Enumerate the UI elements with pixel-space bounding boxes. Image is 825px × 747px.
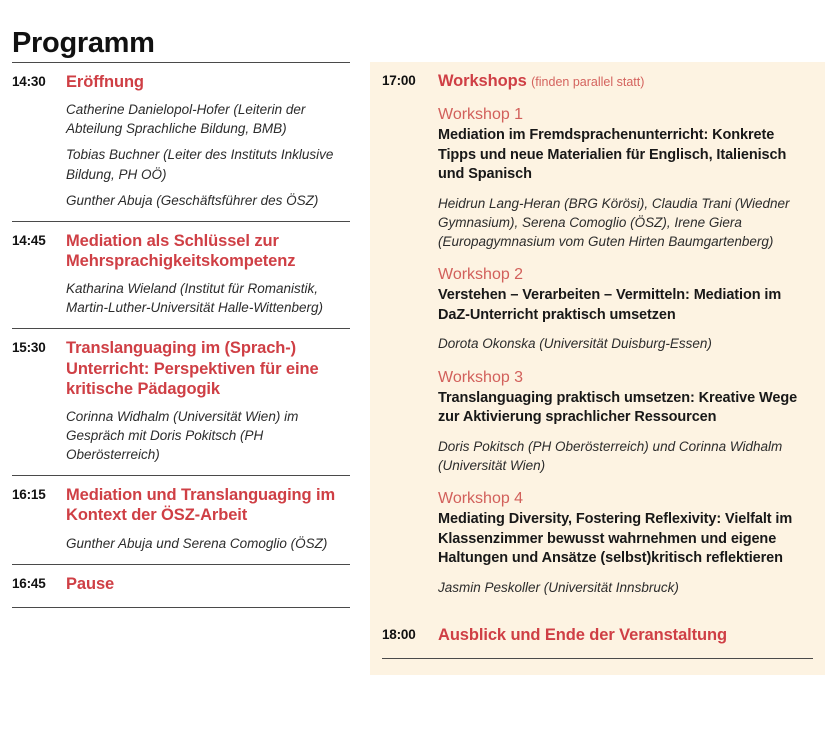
session-speaker: Gunther Abuja und Serena Comoglio (ÖSZ) <box>66 534 350 553</box>
session-speaker: Tobias Buchner (Leiter des Instituts Ink… <box>66 145 350 183</box>
workshops-heading-text: Workshops <box>438 72 527 90</box>
workshops-row: 17:00 Workshops (finden parallel statt) … <box>382 62 813 616</box>
workshop-item: Workshop 3 Translanguaging praktisch ums… <box>438 368 813 475</box>
schedule-row: 16:45 Pause <box>12 564 350 608</box>
session-time: 14:30 <box>12 72 66 89</box>
closing-row: 18:00 Ausblick und Ende der Veranstaltun… <box>382 616 813 659</box>
workshop-item: Workshop 4 Mediating Diversity, Fosterin… <box>438 489 813 597</box>
workshop-label: Workshop 4 <box>438 489 813 509</box>
session-time: 18:00 <box>382 625 438 642</box>
workshops-heading: Workshops (finden parallel statt) <box>438 71 813 91</box>
session-speaker: Gunther Abuja (Geschäftsführer des ÖSZ) <box>66 191 350 210</box>
session-time: 17:00 <box>382 71 438 88</box>
session-title: Mediation als Schlüssel zur Mehrsprachig… <box>66 231 350 271</box>
session-time: 16:45 <box>12 574 66 591</box>
session-title: Ausblick und Ende der Veranstaltung <box>438 625 813 645</box>
schedule-left-column: 14:30 Eröffnung Catherine Danielopol-Hof… <box>0 0 362 608</box>
session-speaker: Katharina Wieland (Institut für Romanist… <box>66 279 350 317</box>
workshop-label: Workshop 1 <box>438 105 813 125</box>
session-speaker: Corinna Widhalm (Universität Wien) im Ge… <box>66 407 350 464</box>
schedule-row: 16:15 Mediation und Translanguaging im K… <box>12 475 350 563</box>
workshop-speakers: Heidrun Lang-Heran (BRG Körösi), Claudia… <box>438 194 813 251</box>
session-title: Eröffnung <box>66 72 350 92</box>
schedule-row: 15:30 Translanguaging im (Sprach-) Unter… <box>12 328 350 475</box>
workshop-speakers: Jasmin Peskoller (Universität Innsbruck) <box>438 578 813 597</box>
session-time: 15:30 <box>12 338 66 355</box>
schedule-row: 14:45 Mediation als Schlüssel zur Mehrsp… <box>12 221 350 329</box>
workshop-label: Workshop 3 <box>438 368 813 388</box>
schedule-right-column: 17:00 Workshops (finden parallel statt) … <box>370 0 825 659</box>
session-speaker: Catherine Danielopol-Hofer (Leiterin der… <box>66 100 350 138</box>
workshop-item: Workshop 1 Mediation im Fremdsprachenunt… <box>438 105 813 251</box>
session-time: 16:15 <box>12 485 66 502</box>
program-page: Programm 14:30 Eröffnung Catherine Danie… <box>0 0 825 747</box>
workshop-speakers: Doris Pokitsch (PH Oberösterreich) und C… <box>438 437 813 475</box>
panel-bottom-spacer <box>438 597 813 605</box>
workshop-title: Mediation im Fremdsprachenunterricht: Ko… <box>438 126 813 185</box>
workshop-item: Workshop 2 Verstehen – Verarbeiten – Ver… <box>438 265 813 353</box>
workshops-note: (finden parallel statt) <box>531 75 644 89</box>
session-title: Mediation und Translanguaging im Kontext… <box>66 485 350 525</box>
session-title: Pause <box>66 574 350 594</box>
session-time: 14:45 <box>12 231 66 248</box>
workshop-title: Mediating Diversity, Fostering Reflexivi… <box>438 510 813 569</box>
session-title: Translanguaging im (Sprach-) Unterricht:… <box>66 338 350 398</box>
workshop-title: Verstehen – Verarbeiten – Vermitteln: Me… <box>438 286 813 325</box>
schedule-row: 14:30 Eröffnung Catherine Danielopol-Hof… <box>12 62 350 221</box>
workshop-speakers: Dorota Okonska (Universität Duisburg-Ess… <box>438 334 813 353</box>
workshop-label: Workshop 2 <box>438 265 813 285</box>
workshop-title: Translanguaging praktisch umsetzen: Krea… <box>438 389 813 428</box>
